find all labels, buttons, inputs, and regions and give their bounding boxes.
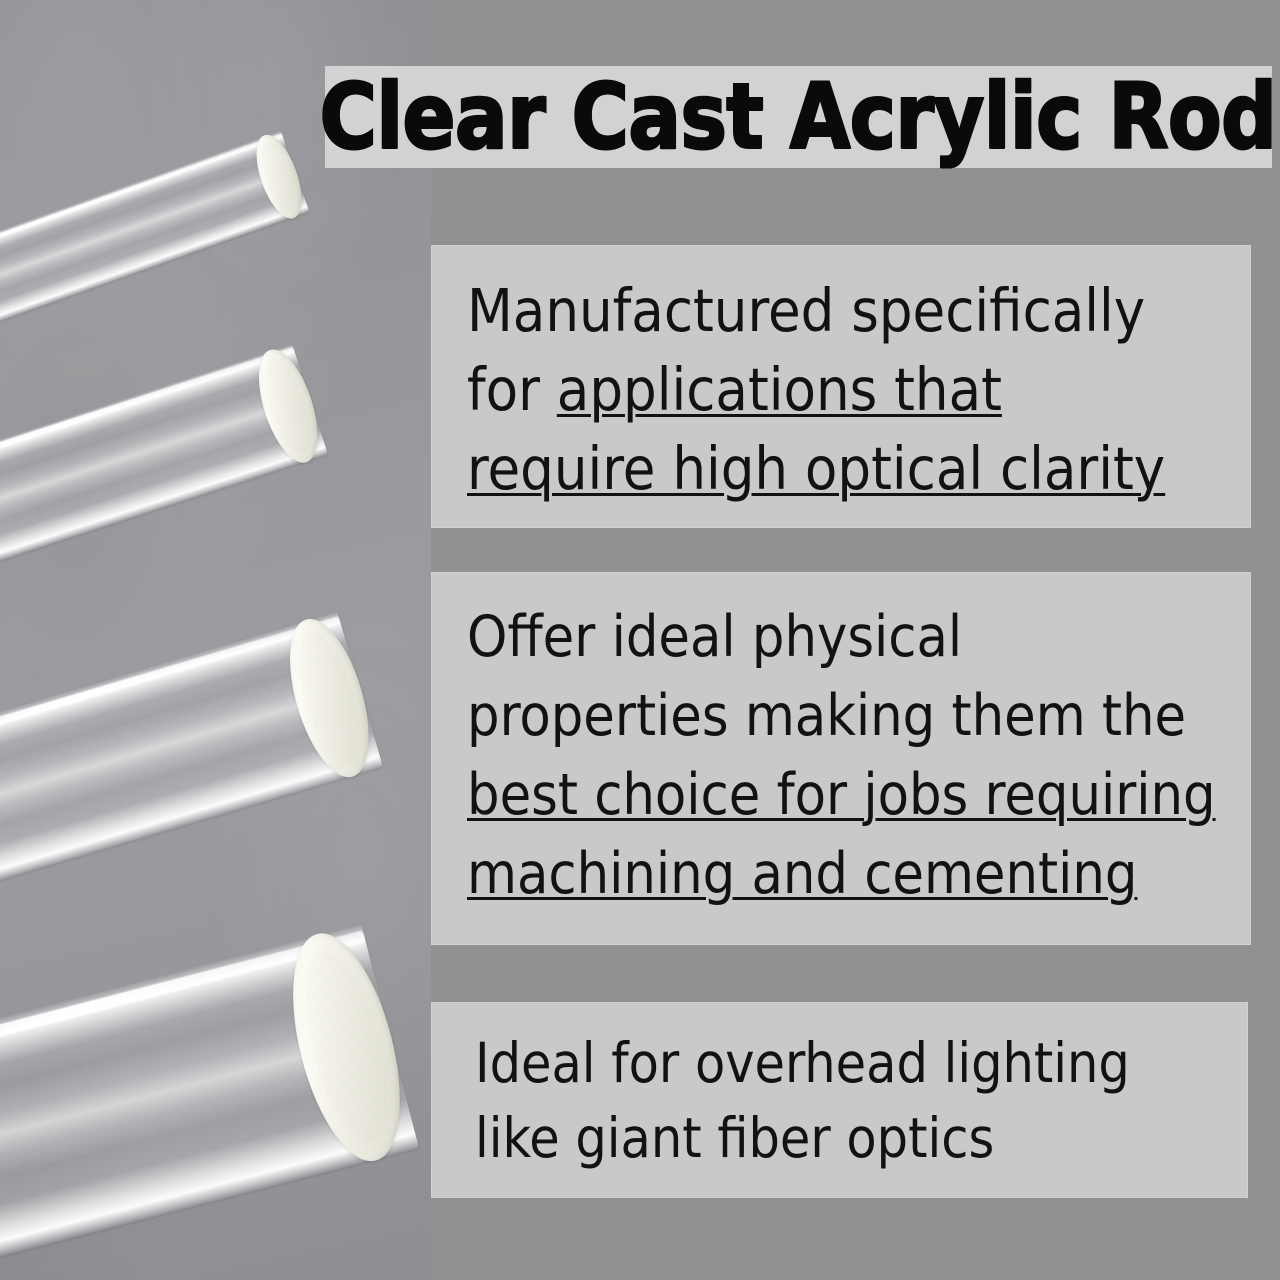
title-banner: Clear Cast Acrylic Rod — [325, 66, 1272, 168]
feature-2-plain: Offer ideal physical properties making t… — [467, 604, 1186, 749]
feature-1-underlined: applications that require high optical c… — [467, 355, 1165, 503]
feature-card-1: Manufactured specifically for applicatio… — [431, 245, 1251, 528]
page-title: Clear Cast Acrylic Rod — [320, 72, 1277, 162]
acrylic-rod-4 — [0, 924, 419, 1280]
feature-2-underlined: best choice for jobs requiring machining… — [467, 762, 1216, 907]
feature-text-1: Manufactured specifically for applicatio… — [467, 271, 1197, 508]
feature-3-plain: Ideal for overhead lighting like giant f… — [475, 1031, 1130, 1170]
feature-text-2: Offer ideal physical properties making t… — [467, 598, 1237, 914]
feature-text-3: Ideal for overhead lighting like giant f… — [475, 1026, 1215, 1176]
feature-card-2: Offer ideal physical properties making t… — [431, 572, 1251, 945]
acrylic-rod-2 — [0, 344, 328, 652]
product-photo — [0, 0, 431, 1280]
feature-card-3: Ideal for overhead lighting like giant f… — [431, 1002, 1248, 1198]
acrylic-rod-3 — [0, 611, 383, 962]
